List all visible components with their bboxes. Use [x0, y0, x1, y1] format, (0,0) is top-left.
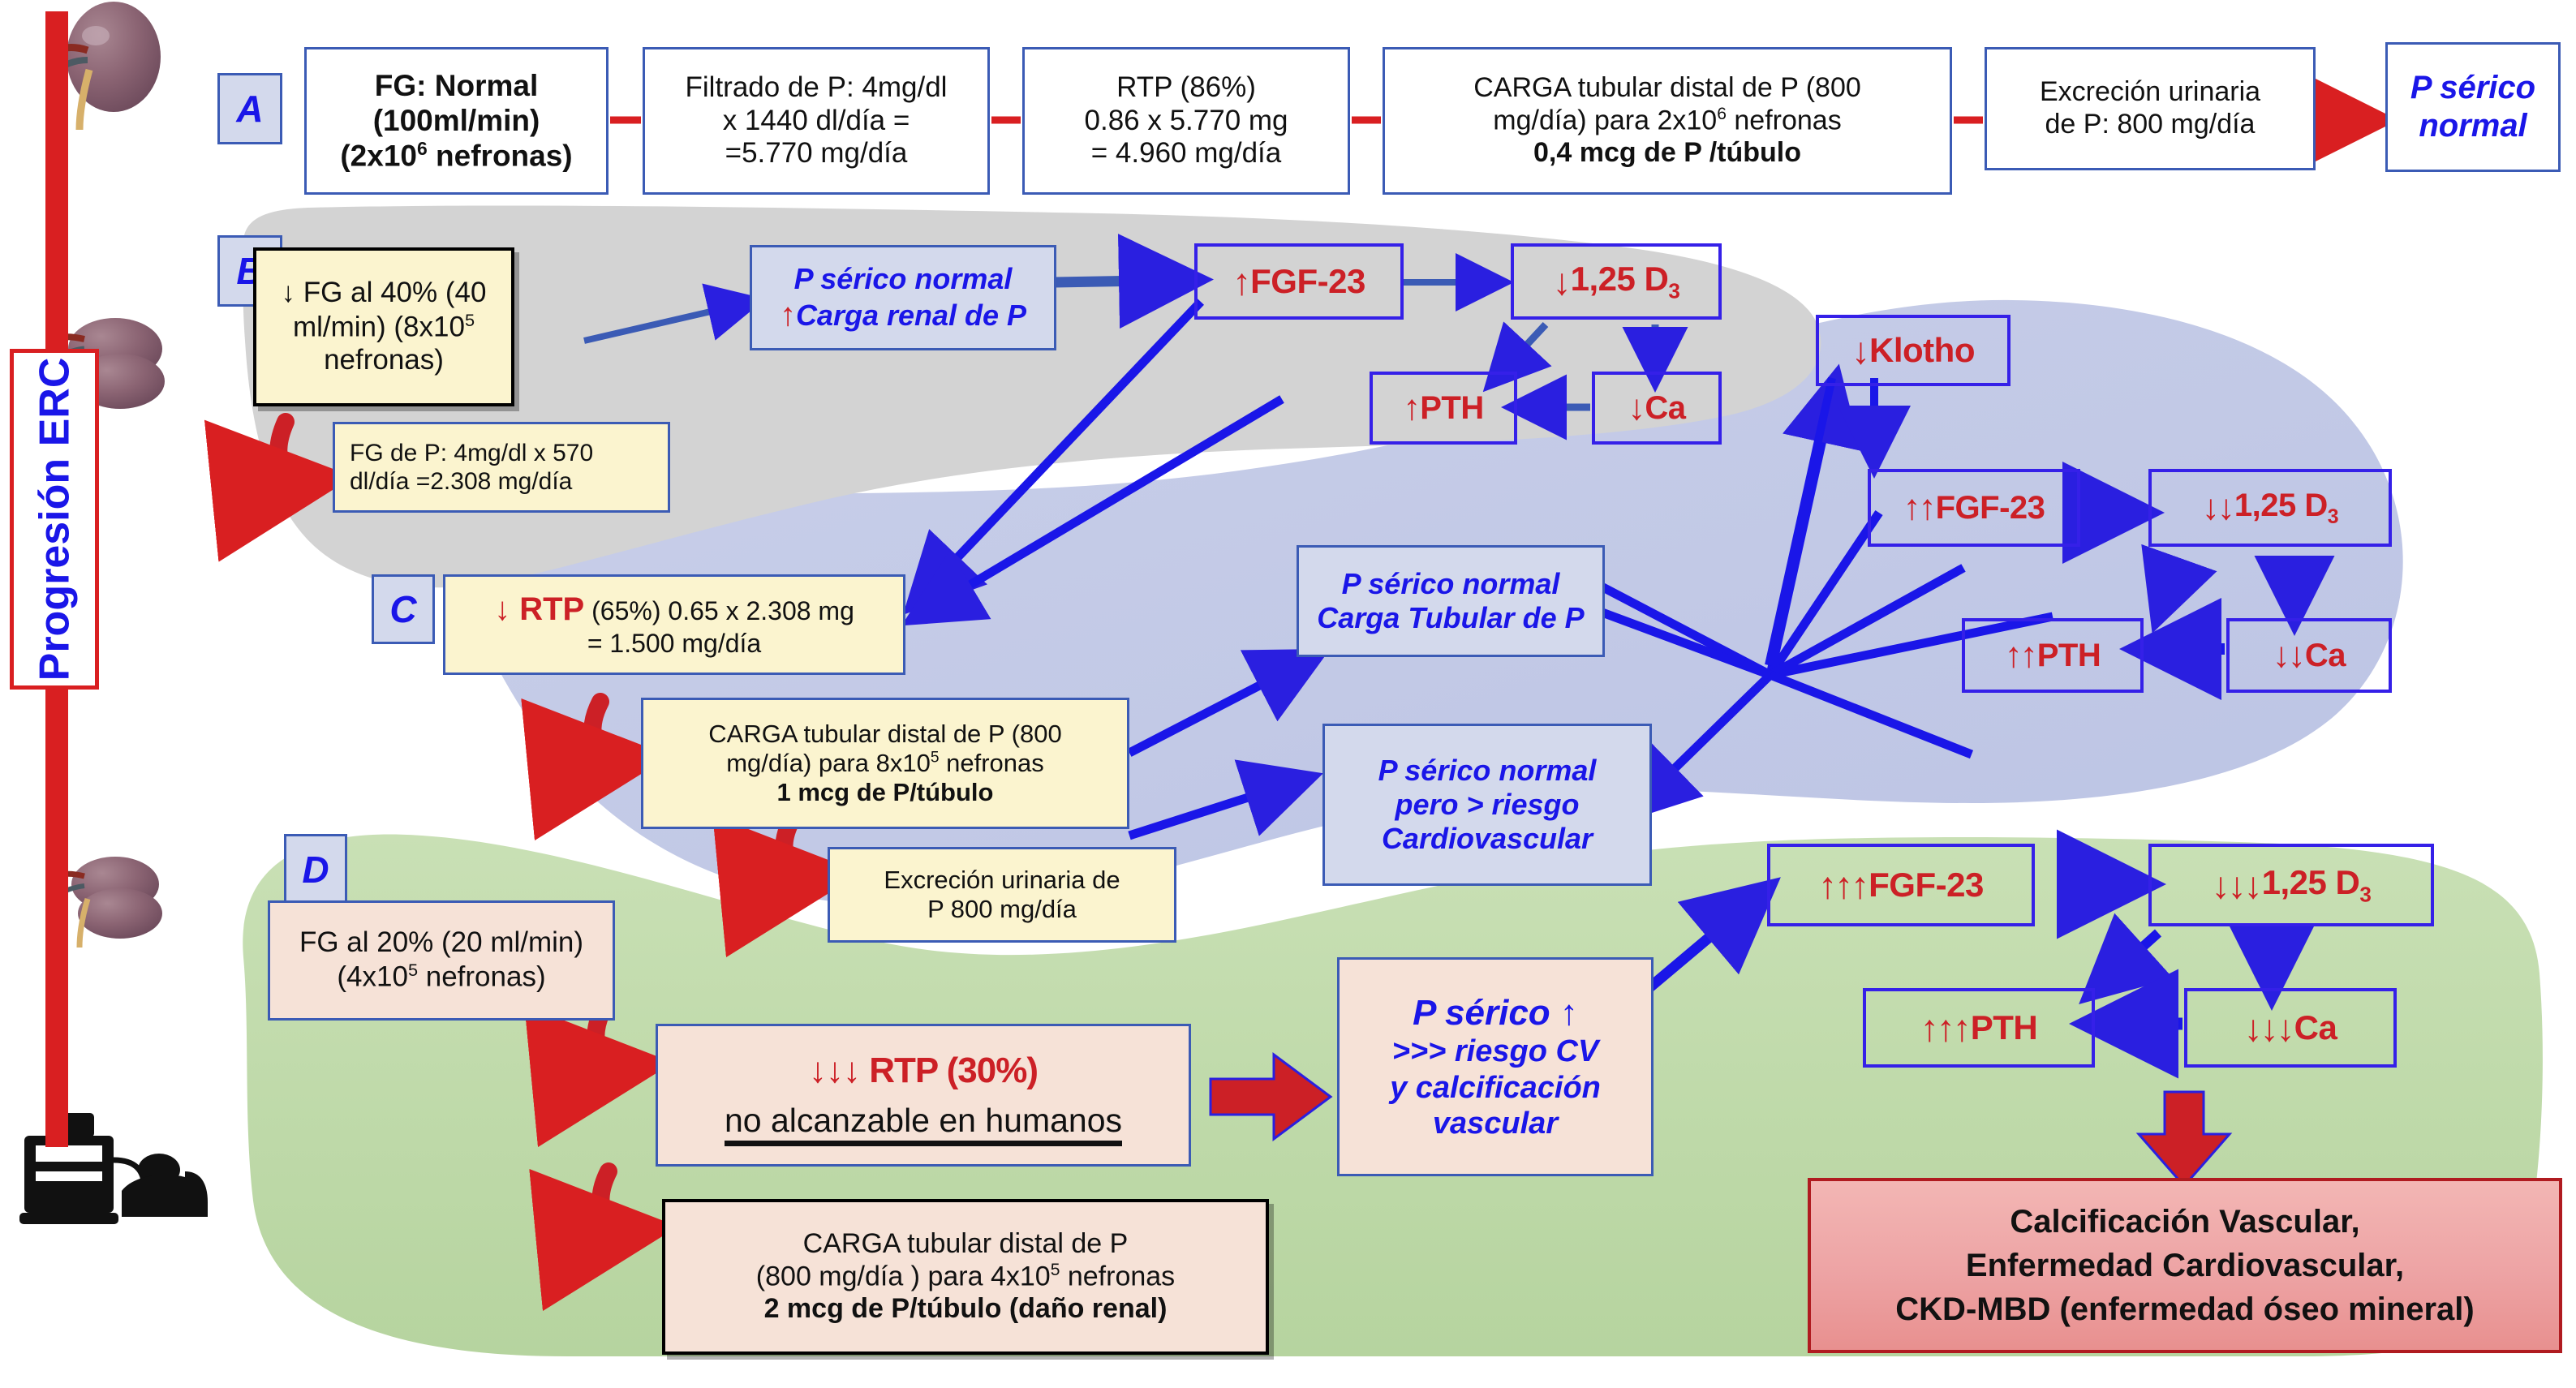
box-c-ca-label: Ca: [2305, 638, 2346, 674]
box-a-rtp-line3: = 4.960 mg/día: [1091, 137, 1281, 170]
box-b-fgf23-label: FGF-23: [1250, 262, 1365, 301]
b-pserico-to-fgf23-arrow: [1055, 280, 1193, 282]
box-d-final-line3: CKD-MBD (enfermedad óseo mineral): [1895, 1287, 2474, 1331]
box-d-final-line2: Enfermedad Cardiovascular,: [1966, 1244, 2404, 1287]
box-c-carga-line3: 1 mcg de P/túbulo: [777, 778, 994, 807]
box-c-rtp[interactable]: ↓ RTP (65%) 0.65 x 2.308 mg = 1.500 mg/d…: [443, 574, 905, 675]
kidney-icon-stage-d: [52, 857, 162, 948]
box-c-excrecion-line2: P 800 mg/día: [927, 895, 1077, 924]
box-d-ca-label: Ca: [2294, 1008, 2337, 1047]
stage-chip-a-letter: A: [236, 87, 263, 131]
box-c-pserico-riesgo-line3: Cardiovascular: [1382, 822, 1593, 856]
box-c-pserico-carga-line2: Carga Tubular de P: [1317, 601, 1584, 635]
box-c-rtp-line1: ↓ RTP (65%) 0.65 x 2.308 mg: [494, 591, 854, 629]
box-a-filtrado-line3: =5.770 mg/día: [725, 137, 908, 170]
box-d-pserico-line1: P sérico ↑: [1413, 992, 1578, 1033]
box-d-ca[interactable]: ↓↓↓ Ca: [2184, 988, 2397, 1068]
box-a-filtrado-line2: x 1440 dl/día =: [723, 105, 910, 138]
box-d-fg[interactable]: FG al 20% (20 ml/min) (4x105 nefronas): [268, 900, 615, 1021]
down-arrow-icon: ↓: [1628, 388, 1643, 428]
box-a-rtp-line1: RTP (86%): [1116, 71, 1256, 105]
box-a-excrecion-line2: de P: 800 mg/día: [2045, 109, 2256, 141]
box-d-pserico-line4: vascular: [1433, 1106, 1558, 1141]
box-c-pserico-riesgo[interactable]: P sérico normal pero > riesgo Cardiovasc…: [1322, 724, 1652, 886]
box-b-fgf23[interactable]: ↑ FGF-23: [1194, 243, 1404, 320]
box-d-rtp-underlined-wrap: no alcanzable en humanos: [725, 1102, 1122, 1141]
up-arrow-icon: ↑: [780, 297, 796, 333]
box-c-excrecion[interactable]: Excreción urinaria de P 800 mg/día: [828, 847, 1176, 943]
box-a-carga[interactable]: CARGA tubular distal de P (800 mg/día) p…: [1383, 47, 1952, 195]
box-b-pth[interactable]: ↑ PTH: [1370, 372, 1517, 445]
box-a-rtp[interactable]: RTP (86%) 0.86 x 5.770 mg = 4.960 mg/día: [1022, 47, 1350, 195]
box-c-klotho[interactable]: ↓ Klotho: [1816, 315, 2010, 386]
box-c-pserico-carga-line1: P sérico normal: [1342, 567, 1560, 601]
box-c-d3[interactable]: ↓↓ 1,25 D3: [2148, 469, 2392, 547]
up-arrow-icon: ↑↑↑: [1920, 1006, 1969, 1050]
box-b-fgp[interactable]: FG de P: 4mg/dl x 570 dl/día =2.308 mg/d…: [333, 422, 670, 513]
box-a-carga-line1: CARGA tubular distal de P (800: [1473, 72, 1861, 105]
box-d-fg-line1: FG al 20% (20 ml/min): [299, 926, 583, 960]
box-d-final-line1: Calcificación Vascular,: [2010, 1200, 2359, 1244]
up-arrow-icon: ↑: [1403, 388, 1418, 428]
box-b-fg-line2: ml/min) (8x105: [293, 310, 475, 345]
box-a-excrecion-line1: Excreción urinaria: [2040, 76, 2260, 109]
down-arrow-icon: ↓↓↓: [2212, 863, 2260, 907]
box-c-pserico-carga[interactable]: P sérico normal Carga Tubular de P: [1297, 545, 1605, 657]
up-arrow-icon: ↑↑↑: [1818, 863, 1867, 907]
down-arrow-icon: ↓: [1553, 260, 1569, 303]
box-d-fgf23[interactable]: ↑↑↑ FGF-23: [1767, 844, 2035, 926]
box-c-d3-label: 1,25 D3: [2234, 488, 2338, 529]
box-b-fgp-line1: FG de P: 4mg/dl x 570: [350, 439, 593, 467]
box-b-ca-label: Ca: [1645, 390, 1685, 427]
stage-chip-c-letter: C: [389, 587, 416, 631]
box-d-pserico-line2: >>> riesgo CV: [1392, 1033, 1599, 1069]
box-c-excrecion-line1: Excreción urinaria de: [884, 866, 1120, 895]
box-b-d3[interactable]: ↓ 1,25 D3: [1511, 243, 1722, 320]
box-b-pth-label: PTH: [1420, 390, 1484, 427]
stage-chip-a[interactable]: A: [217, 73, 282, 144]
box-c-fgf23[interactable]: ↑↑ FGF-23: [1868, 469, 2080, 547]
box-c-pserico-riesgo-line2: pero > riesgo: [1395, 788, 1579, 822]
box-d-carga-line2: (800 mg/día ) para 4x105 nefronas: [756, 1261, 1175, 1293]
diagram-canvas: Progresión ERC A B C D FG: Normal (100ml…: [0, 0, 2576, 1388]
up-arrow-icon: ↑↑: [2005, 635, 2036, 676]
box-a-carga-line3: 0,4 mcg de P /túbulo: [1533, 137, 1801, 170]
down-arrow-icon: ↓: [1851, 329, 1868, 372]
box-d-pth[interactable]: ↑↑↑ PTH: [1863, 988, 2095, 1068]
box-c-rtp-line2: = 1.500 mg/día: [587, 629, 761, 659]
up-arrow-icon: ↑↑: [1903, 488, 1934, 528]
box-b-fg-line1: ↓ FG al 40% (40: [282, 277, 487, 310]
down-arrow-icon: ↓↓↓: [2244, 1006, 2293, 1050]
box-d-pserico[interactable]: P sérico ↑ >>> riesgo CV y calcificación…: [1337, 957, 1654, 1176]
box-b-ca[interactable]: ↓ Ca: [1592, 372, 1722, 445]
box-c-ca[interactable]: ↓↓ Ca: [2226, 618, 2392, 693]
box-d-carga-line3: 2 mcg de P/túbulo (daño renal): [764, 1293, 1168, 1326]
box-a-fg[interactable]: FG: Normal (100ml/min) (2x106 nefronas): [304, 47, 609, 195]
up-arrow-icon: ↑: [1232, 260, 1249, 303]
box-c-pserico-riesgo-line1: P sérico normal: [1378, 754, 1597, 788]
box-c-pth[interactable]: ↑↑ PTH: [1962, 618, 2144, 693]
box-c-carga[interactable]: CARGA tubular distal de P (800 mg/día) p…: [641, 698, 1129, 829]
box-a-carga-line2: mg/día) para 2x106 nefronas: [1493, 105, 1841, 137]
box-a-result[interactable]: P sérico normal: [2385, 42, 2561, 172]
box-c-carga-line2: mg/día) para 8x105 nefronas: [726, 749, 1044, 778]
box-b-d3-label: 1,25 D3: [1571, 260, 1680, 303]
box-b-pserico-line2: ↑Carga renal de P: [780, 296, 1026, 334]
box-a-fg-line1: FG: Normal: [375, 68, 538, 103]
stage-chip-d-letter: D: [302, 848, 329, 892]
box-d-carga[interactable]: CARGA tubular distal de P (800 mg/día ) …: [662, 1199, 1269, 1355]
down-arrow-icon: ↓↓: [2202, 488, 2233, 528]
box-d-pth-label: PTH: [1971, 1008, 2038, 1047]
box-d-final-outcome[interactable]: Calcificación Vascular, Enfermedad Cardi…: [1808, 1178, 2562, 1353]
box-a-fg-line2: (100ml/min): [373, 103, 540, 138]
box-c-carga-line1: CARGA tubular distal de P (800: [708, 720, 1061, 749]
box-d-fg-line2: (4x105 nefronas): [337, 960, 545, 995]
stage-chip-c[interactable]: C: [372, 574, 435, 644]
box-b-pserico[interactable]: P sérico normal ↑Carga renal de P: [750, 245, 1056, 350]
box-a-filtrado-line1: Filtrado de P: 4mg/dl: [686, 71, 948, 105]
box-c-pth-label: PTH: [2037, 638, 2101, 674]
box-a-fg-line3: (2x106 nefronas): [340, 138, 572, 174]
box-b-pserico-line1: P sérico normal: [794, 262, 1013, 296]
box-a-filtrado[interactable]: Filtrado de P: 4mg/dl x 1440 dl/día = =5…: [643, 47, 990, 195]
progression-label: Progresión ERC: [10, 349, 99, 690]
box-b-fg-line3: nefronas): [324, 344, 444, 377]
box-d-rtp-underlined: no alcanzable en humanos: [725, 1102, 1122, 1146]
box-d-carga-line1: CARGA tubular distal de P: [803, 1228, 1129, 1261]
box-d-pserico-line3: y calcificación: [1390, 1070, 1601, 1106]
box-d-d3[interactable]: ↓↓↓ 1,25 D3: [2148, 844, 2434, 926]
box-b-fgp-line2: dl/día =2.308 mg/día: [350, 467, 572, 496]
down-arrow-icon: ↓↓: [2273, 635, 2303, 676]
box-d-rtp-red: ↓↓↓ RTP (30%): [809, 1050, 1038, 1091]
box-d-fgf23-label: FGF-23: [1869, 866, 1984, 905]
box-a-excrecion[interactable]: Excreción urinaria de P: 800 mg/día: [1985, 47, 2316, 170]
box-b-fg[interactable]: ↓ FG al 40% (40 ml/min) (8x105 nefronas): [253, 247, 514, 406]
box-c-klotho-label: Klotho: [1869, 331, 1975, 370]
box-a-result-line1: P sérico: [2410, 69, 2535, 107]
stage-chip-d[interactable]: D: [284, 834, 347, 905]
box-a-rtp-line2: 0.86 x 5.770 mg: [1085, 105, 1288, 138]
progression-label-text: Progresión ERC: [30, 358, 79, 681]
box-c-fgf23-label: FGF-23: [1936, 490, 2045, 526]
box-d-d3-label: 1,25 D3: [2262, 863, 2372, 907]
box-a-result-line2: normal: [2419, 107, 2527, 145]
box-d-rtp[interactable]: ↓↓↓ RTP (30%) no alcanzable en humanos: [656, 1024, 1191, 1167]
